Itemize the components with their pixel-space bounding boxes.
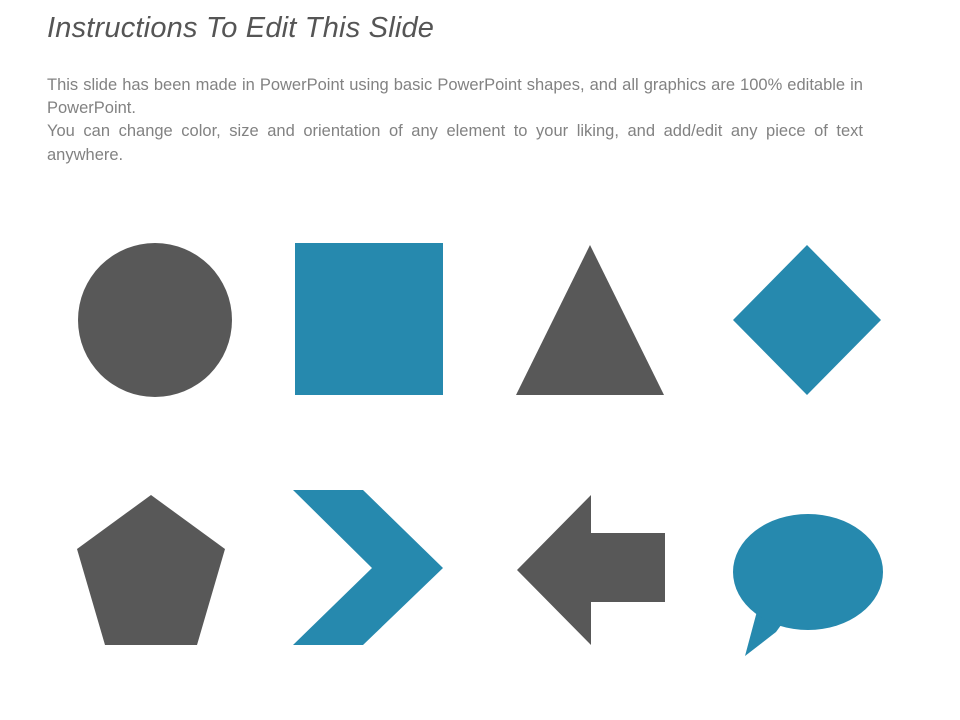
slide-body-text: This slide has been made in PowerPoint u…	[47, 74, 863, 167]
diamond-shape-icon[interactable]	[733, 245, 881, 395]
speech-bubble-shape-icon[interactable]	[733, 514, 883, 656]
body-paragraph-1: This slide has been made in PowerPoint u…	[47, 74, 863, 120]
chevron-right-shape-icon[interactable]	[293, 490, 443, 645]
page-title: Instructions To Edit This Slide	[47, 12, 907, 45]
arrow-left-shape-icon[interactable]	[517, 495, 665, 645]
triangle-shape-icon[interactable]	[516, 245, 664, 395]
body-paragraph-2: You can change color, size and orientati…	[47, 120, 863, 166]
square-shape-icon[interactable]	[295, 243, 443, 395]
circle-shape-icon[interactable]	[78, 243, 232, 397]
slide-canvas: Instructions To Edit This Slide This sli…	[0, 0, 960, 720]
pentagon-shape-icon[interactable]	[77, 495, 225, 645]
